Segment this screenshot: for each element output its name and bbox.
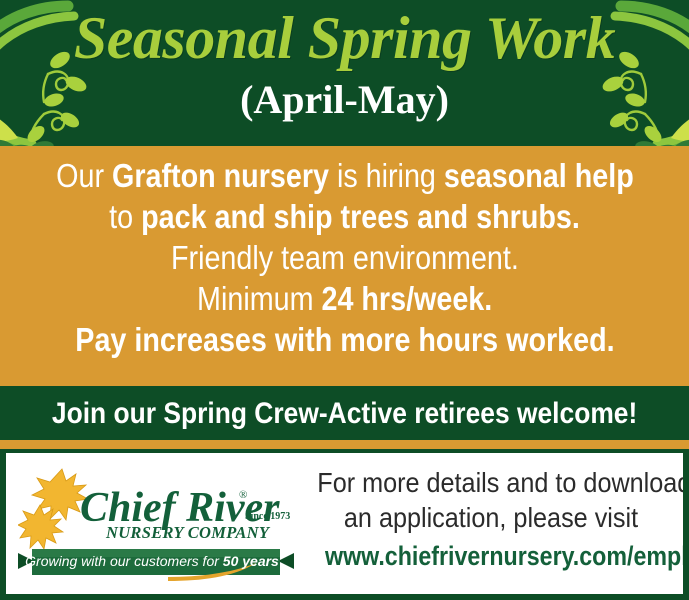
footer-panel: Chief River ® Since 1973 NURSERY COMPANY… [6,453,683,594]
page-subtitle: (April-May) [0,80,689,120]
description-line-3: Friendly team environment. [171,237,519,278]
tagline-prefix: Growing with our customers for [25,553,223,569]
line4-prefix: Minimum [197,280,321,317]
contact-line-1: For more details and to download [317,465,664,500]
line1-bold-1: Grafton nursery [112,157,329,194]
job-description-panel: Our Grafton nursery is hiring seasonal h… [0,146,689,386]
line2-bold-1: pack and ship trees and shrubs. [141,198,580,235]
registered-trademark-icon: ® [239,489,247,501]
line1-prefix: Our [56,157,112,194]
description-line-5: Pay increases with more hours worked. [75,319,614,360]
description-line-4: Minimum 24 hrs/week. [197,278,492,319]
contact-block: For more details and to download an appl… [298,465,683,572]
line1-bold-2: seasonal help [443,157,633,194]
orange-divider-strip [0,440,689,449]
line5-prefix: Pay increases with more hours worked. [75,321,614,358]
tagline-text: Growing with our customers for 50 years [18,553,286,569]
callout-text: Join our Spring Crew-Active retirees wel… [52,397,637,431]
contact-line-2: an application, please visit [317,500,664,535]
poster-header: Seasonal Spring Work (April-May) [0,0,689,146]
page-title: Seasonal Spring Work [0,8,689,68]
job-ad-poster: Seasonal Spring Work (April-May) Our Gra… [0,0,689,600]
company-logo[interactable]: Chief River ® Since 1973 NURSERY COMPANY… [18,463,304,585]
footer-frame: Chief River ® Since 1973 NURSERY COMPANY… [0,449,689,600]
line1-mid: is hiring [329,157,444,194]
logo-since-text: Since 1973 [245,511,290,522]
line3-prefix: Friendly team environment. [171,239,519,276]
application-url[interactable]: www.chiefrivernursery.com/employment [325,540,657,572]
line4-bold-1: 24 hrs/week. [321,280,492,317]
logo-company-subname: NURSERY COMPANY [106,523,266,543]
description-line-2: to pack and ship trees and shrubs. [109,196,580,237]
line2-prefix: to [109,198,141,235]
description-line-1: Our Grafton nursery is hiring seasonal h… [56,155,634,196]
tagline-years: 50 years [223,553,279,569]
callout-banner: Join our Spring Crew-Active retirees wel… [0,388,689,440]
